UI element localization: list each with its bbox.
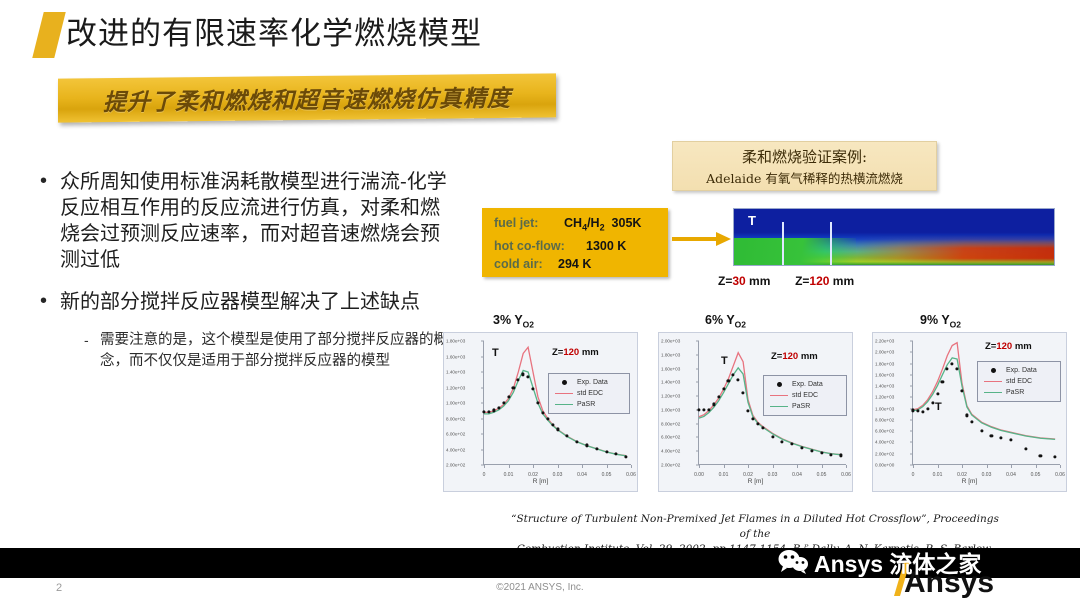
chart-z-annotation: Z=120 mm <box>985 341 1032 352</box>
legend-row: Exp. Data <box>769 379 841 390</box>
legend-dot-icon <box>769 382 789 387</box>
legend-line-icon <box>769 395 789 397</box>
chart-legend: Exp. Datastd EDCPaSR <box>548 373 630 414</box>
contour-field-label: T <box>748 213 756 228</box>
z30-probe-line <box>782 222 784 266</box>
chart-title-1: 3% YO2 <box>493 313 534 330</box>
legend-line-icon <box>769 406 789 408</box>
chart-T-annotation: T <box>492 347 499 359</box>
condition-key: cold air: <box>494 255 552 273</box>
legend-row: PaSR <box>983 387 1055 398</box>
subtitle-banner: 提升了柔和燃烧和超音速燃烧仿真精度 <box>58 73 556 122</box>
boundary-conditions-box: fuel jet: CH4/H2 305K hot co-flow: 1300 … <box>482 208 668 277</box>
sub-bullet-marker: - <box>84 330 100 372</box>
chart-z-annotation: Z=120 mm <box>552 347 599 358</box>
callout-line-2: Adelaide 有氧气稀释的热横流燃烧 <box>706 168 903 187</box>
bullet-item-1: • 众所周知使用标准涡耗散模型进行湍流-化学反应相互作用的反应流进行仿真，对柔和… <box>40 168 450 272</box>
legend-label: PaSR <box>792 403 810 410</box>
right-arrow-icon <box>672 231 732 247</box>
chart-z-annotation: Z=120 mm <box>771 351 818 362</box>
legend-line-icon <box>554 404 574 406</box>
bullet-marker: • <box>40 288 60 314</box>
condition-row-hot-coflow: hot co-flow: 1300 K <box>494 237 668 255</box>
chart-title-2: 6% YO2 <box>705 313 746 330</box>
legend-row: PaSR <box>554 399 624 410</box>
z-unit: mm <box>798 351 818 362</box>
legend-label: Exp. Data <box>1006 367 1037 374</box>
condition-row-cold-air: cold air: 294 K <box>494 255 668 273</box>
legend-label: std EDC <box>792 392 818 399</box>
bullet-list: • 众所周知使用标准涡耗散模型进行湍流-化学反应相互作用的反应流进行仿真，对柔和… <box>40 168 450 372</box>
page-title: 改进的有限速率化学燃烧模型 <box>66 8 482 53</box>
chart-T-annotation: T <box>935 401 942 413</box>
chart-9pct-yo2: 2.20e+032.00e+031.80e+031.60e+031.40e+03… <box>872 332 1067 492</box>
watermark-text: Ansys 流体之家 <box>814 545 981 579</box>
legend-row: PaSR <box>769 401 841 412</box>
legend-line-icon <box>983 392 1003 394</box>
bullet-text: 众所周知使用标准涡耗散模型进行湍流-化学反应相互作用的反应流进行仿真，对柔和燃烧… <box>60 168 450 272</box>
condition-row-fuel-jet: fuel jet: CH4/H2 305K <box>494 214 668 237</box>
sub-bullet-text: 需要注意的是，这个模型是使用了部分搅拌反应器的概念，而不仅仅是适用于部分搅拌反应… <box>100 330 450 372</box>
legend-label: Exp. Data <box>792 381 823 388</box>
wechat-icon <box>778 549 808 575</box>
legend-dot-icon <box>983 368 1003 373</box>
condition-key: fuel jet: <box>494 214 558 232</box>
z-unit: mm <box>579 347 599 358</box>
legend-label: PaSR <box>577 401 595 408</box>
chart-3pct-yo2: 1.80e+031.60e+031.40e+031.20e+031.00e+03… <box>443 332 638 492</box>
citation-line-1: “Structure of Turbulent Non-Premixed Jet… <box>505 512 1005 542</box>
chart-legend: Exp. Datastd EDCPaSR <box>763 375 847 416</box>
chart-legend: Exp. Datastd EDCPaSR <box>977 361 1061 402</box>
z-value: 120 <box>996 341 1012 352</box>
z30-label: Z=30 mm <box>718 274 770 288</box>
legend-label: PaSR <box>1006 389 1024 396</box>
condition-value: CH4/H2 305K <box>564 214 641 237</box>
legend-row: std EDC <box>769 390 841 401</box>
legend-row: Exp. Data <box>554 377 624 388</box>
chart-6pct-yo2: 2.00e+031.80e+031.60e+031.40e+031.20e+03… <box>658 332 853 492</box>
z-prefix: Z= <box>771 351 782 362</box>
z-prefix: Z= <box>552 347 563 358</box>
chart-title-3: 9% YO2 <box>920 313 961 330</box>
chart-T-annotation: T <box>721 355 728 367</box>
condition-key: hot co-flow: <box>494 237 580 255</box>
slide-title-bar: 改进的有限速率化学燃烧模型 <box>38 8 738 64</box>
validation-case-callout: 柔和燃烧验证案例: Adelaide 有氧气稀释的热横流燃烧 <box>672 141 937 191</box>
legend-row: std EDC <box>983 376 1055 387</box>
z-prefix: Z= <box>985 341 996 352</box>
legend-line-icon <box>554 393 574 395</box>
z-value: 120 <box>563 347 579 358</box>
z120-probe-line <box>830 222 832 266</box>
sub-bullet-item: - 需要注意的是，这个模型是使用了部分搅拌反应器的概念，而不仅仅是适用于部分搅拌… <box>84 330 450 372</box>
title-accent-slash <box>32 12 65 58</box>
bullet-marker: • <box>40 168 60 272</box>
legend-row: std EDC <box>554 388 624 399</box>
z-unit: mm <box>1012 341 1032 352</box>
condition-value: 294 K <box>558 255 591 273</box>
wechat-watermark: Ansys 流体之家 <box>778 545 981 579</box>
legend-label: std EDC <box>577 390 603 397</box>
chart-series-layer <box>873 333 1066 491</box>
temperature-contour-image: T <box>733 208 1055 266</box>
legend-dot-icon <box>554 380 574 385</box>
z120-label: Z=120 mm <box>795 274 854 288</box>
bullet-text: 新的部分搅拌反应器模型解决了上述缺点 <box>60 288 420 314</box>
z-value: 120 <box>782 351 798 362</box>
legend-line-icon <box>983 381 1003 383</box>
legend-label: Exp. Data <box>577 379 608 386</box>
legend-row: Exp. Data <box>983 365 1055 376</box>
condition-value: 1300 K <box>586 237 626 255</box>
callout-line-1: 柔和燃烧验证案例: <box>742 146 867 167</box>
bullet-item-2: • 新的部分搅拌反应器模型解决了上述缺点 <box>40 288 450 314</box>
legend-label: std EDC <box>1006 378 1032 385</box>
subtitle-text: 提升了柔和燃烧和超音速燃烧仿真精度 <box>103 79 511 117</box>
z-position-labels: Z=30 mm Z=120 mm <box>718 274 968 288</box>
